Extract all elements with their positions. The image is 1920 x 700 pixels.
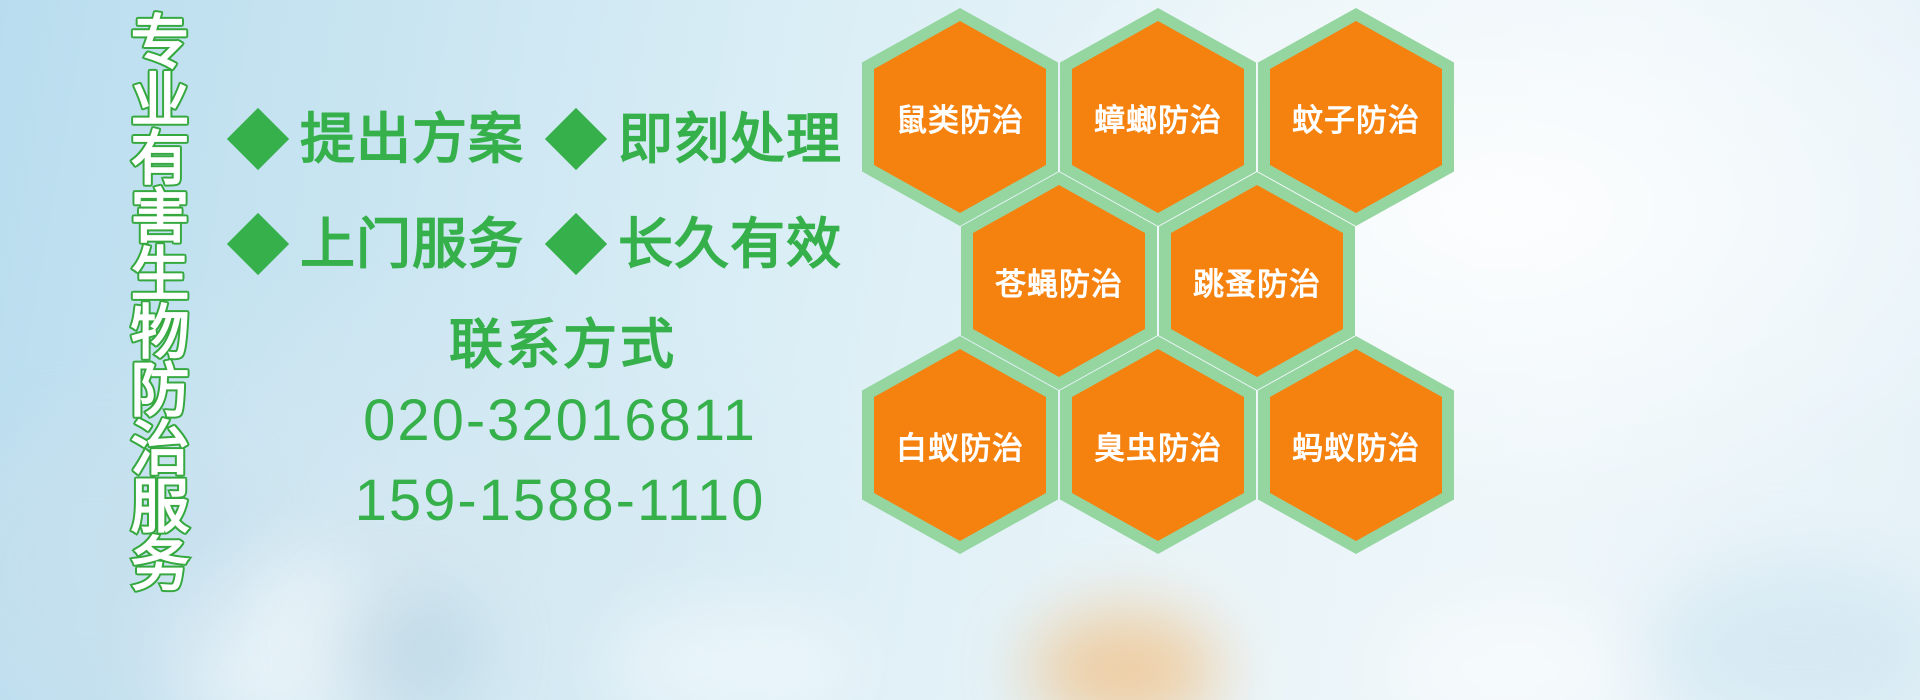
- feature-item: 即刻处理: [554, 110, 842, 168]
- contact-block: 联系方式 020-32016811 159-1588-1110: [240, 312, 880, 538]
- service-hexagon-grid: 鼠类防治 蟑螂防治 蚊子防治 苍蝇防治 跳蚤防治 白蚁防治 臭虫防治 蚂蚁防治: [862, 0, 1462, 560]
- hexagon-label: 鼠类防治: [896, 95, 1024, 140]
- phone-number-mobile[interactable]: 159-1588-1110: [240, 464, 880, 538]
- pest-control-banner: 专 业 有 害 生 物 防 治 服 务 提出方案 即刻处理 上门服务: [0, 0, 1920, 700]
- diamond-icon: [545, 212, 607, 274]
- diamond-icon: [227, 212, 289, 274]
- headline-char: 治: [130, 420, 189, 478]
- headline-char: 生: [130, 246, 189, 304]
- bokeh-blob: [330, 590, 480, 700]
- hexagon-label: 白蚁防治: [896, 423, 1024, 468]
- feature-label: 提出方案: [300, 110, 524, 168]
- hexagon-label: 跳蚤防治: [1193, 259, 1321, 304]
- bokeh-blob: [1030, 610, 1220, 700]
- vertical-headline: 专 业 有 害 生 物 防 治 服 务: [108, 14, 212, 554]
- headline-char: 害: [130, 188, 189, 246]
- hexagon-label: 蚊子防治: [1292, 95, 1420, 140]
- headline-char: 有: [130, 130, 189, 188]
- feature-label: 即刻处理: [618, 110, 842, 168]
- headline-char: 务: [130, 536, 189, 594]
- diamond-icon: [227, 107, 289, 169]
- hexagon-label: 蚂蚁防治: [1292, 423, 1420, 468]
- hexagon-label: 蟑螂防治: [1094, 95, 1222, 140]
- feature-item: 长久有效: [554, 215, 842, 273]
- feature-row: 上门服务 长久有效: [236, 191, 876, 296]
- headline-char: 物: [130, 304, 189, 362]
- bokeh-blob: [1650, 560, 1920, 700]
- bokeh-blob: [600, 600, 860, 700]
- feature-item: 上门服务: [236, 215, 524, 273]
- feature-list: 提出方案 即刻处理 上门服务 长久有效: [236, 86, 876, 296]
- hexagon-label: 臭虫防治: [1094, 423, 1222, 468]
- headline-char: 防: [130, 362, 189, 420]
- headline-char: 服: [130, 478, 189, 536]
- feature-label: 上门服务: [300, 215, 524, 273]
- headline-char: 专: [130, 14, 189, 72]
- bokeh-blob: [1380, 600, 1640, 700]
- diamond-icon: [545, 107, 607, 169]
- hexagon-label: 苍蝇防治: [995, 259, 1123, 304]
- phone-number-landline[interactable]: 020-32016811: [240, 384, 880, 458]
- feature-item: 提出方案: [236, 110, 524, 168]
- headline-char: 业: [130, 72, 189, 130]
- feature-label: 长久有效: [618, 215, 842, 273]
- contact-heading: 联系方式: [246, 312, 880, 378]
- feature-row: 提出方案 即刻处理: [236, 86, 876, 191]
